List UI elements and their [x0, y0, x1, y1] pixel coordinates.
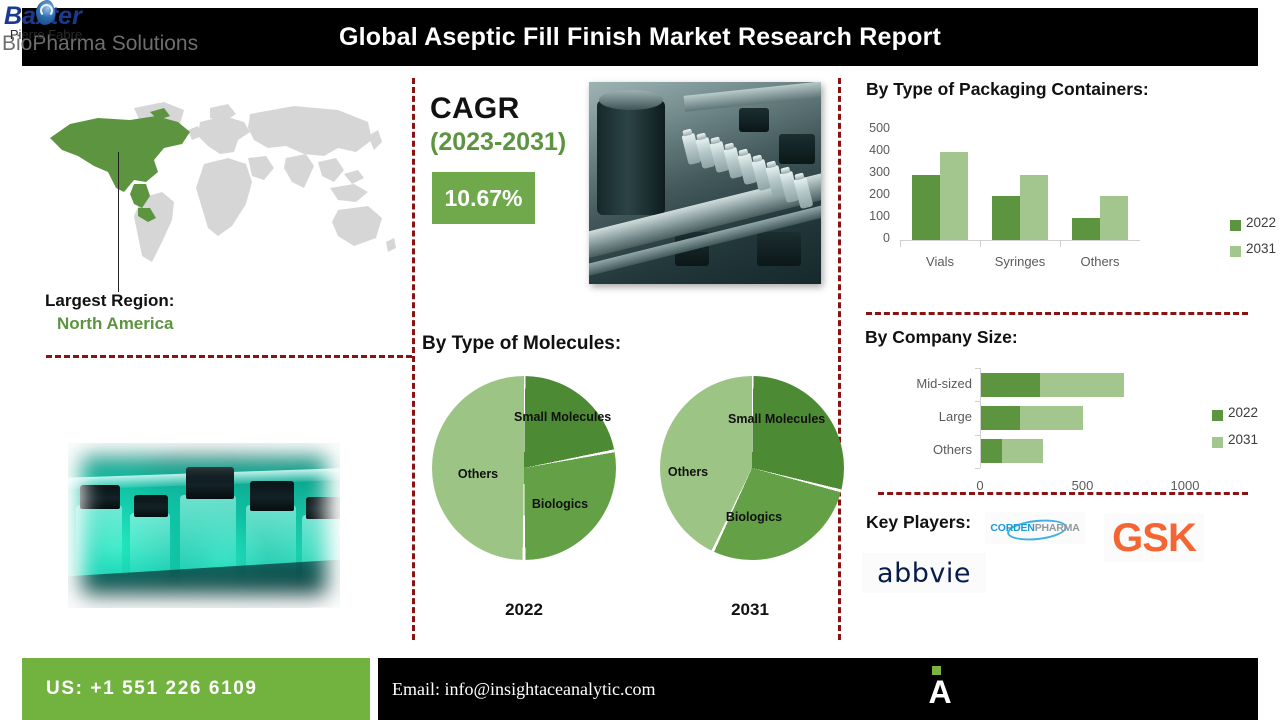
y-axis-tick-mark: [975, 435, 980, 436]
gsk-wordmark: GSK: [1112, 516, 1196, 561]
pie-2031-small-molecules-text: Small Molecules: [728, 412, 825, 426]
bar-2031-mid-sized: [1040, 373, 1124, 397]
logo-cordenpharma: CORDENPHARMA: [985, 512, 1085, 544]
y-axis-label-large: Large: [860, 409, 972, 424]
world-map: [38, 96, 398, 276]
x-axis-tick: 1000: [1160, 478, 1210, 493]
pie-2022-caption: 2022: [484, 600, 564, 620]
logo-letter: A: [920, 676, 960, 708]
legend-swatch-2022: [1212, 410, 1223, 421]
bar-2022-vials: [912, 175, 940, 240]
largest-region-value: North America: [57, 314, 174, 334]
x-axis-label-others: Others: [1060, 254, 1140, 269]
y-axis-tick-mark: [975, 368, 980, 369]
footer-email-box: Email: info@insightaceanalytic.com: [378, 658, 1258, 720]
cordenpharma-wordmark: CORDENPHARMA: [990, 522, 1079, 534]
pierre-fabre-leaf-icon: [36, 0, 55, 25]
legend-label-2031: 2031: [1246, 241, 1276, 256]
header-band: Global Aseptic Fill Finish Market Resear…: [22, 8, 1258, 66]
packaging-bar-chart: 5004003002001000VialsSyringesOthers20222…: [845, 125, 1275, 285]
divider-vertical-left: [412, 78, 415, 640]
bar-2031-syringes: [1020, 175, 1048, 240]
bar-2022-others: [981, 439, 1002, 463]
vial-photo-vignette: [68, 443, 340, 608]
y-axis-tick-mark: [975, 468, 980, 469]
pie-2031-label-small-molecules: Small Molecules: [728, 412, 812, 426]
pie-2022-others-text: Others: [458, 467, 498, 481]
cordenpharma-part2: PHARMA: [1035, 522, 1080, 534]
x-axis-line: [900, 240, 1140, 241]
divider-vertical-right: [838, 78, 841, 640]
pie-2031-biologics-text: Biologics: [726, 510, 782, 524]
legend-label-2031: 2031: [1228, 432, 1258, 447]
bar-2031-others: [1002, 439, 1043, 463]
y-axis-tick: 400: [845, 143, 890, 157]
molecules-chart-title: By Type of Molecules:: [422, 333, 621, 355]
y-axis-tick-mark: [975, 401, 980, 402]
bar-2022-mid-sized: [981, 373, 1040, 397]
vial-photo: [68, 443, 340, 608]
x-axis-separator: [900, 240, 901, 247]
pie-2031-caption: 2031: [710, 600, 790, 620]
machine-drum-top: [599, 90, 663, 110]
world-map-svg: [38, 96, 398, 276]
divider-horizontal-left: [46, 355, 412, 358]
x-axis-separator: [1060, 240, 1061, 247]
cagr-value-box: 10.67%: [432, 172, 535, 224]
largest-region-label: Largest Region:: [45, 291, 174, 311]
infographic-page: Global Aseptic Fill Finish Market Resear…: [0, 0, 1280, 720]
x-axis-label-syringes: Syringes: [980, 254, 1060, 269]
cagr-title: CAGR: [430, 92, 520, 126]
bar-2031-large: [1020, 406, 1084, 430]
divider-horizontal-right-top: [866, 312, 1248, 315]
packaging-chart-title: By Type of Packaging Containers:: [866, 79, 1149, 100]
pie-2031-others-text: Others: [668, 465, 708, 479]
pie-2022-biologics-text: Biologics: [532, 497, 588, 511]
x-axis-separator: [980, 240, 981, 247]
legend-label-2022: 2022: [1246, 215, 1276, 230]
machine-block: [757, 232, 801, 266]
y-axis-tick: 100: [845, 209, 890, 223]
footer-email-text: Email: info@insightaceanalytic.com: [392, 679, 656, 700]
legend-swatch-2031: [1212, 437, 1223, 448]
logo-gsk: GSK: [1104, 514, 1204, 562]
bar-2022-large: [981, 406, 1020, 430]
company-bar-chart: Mid-sizedLargeOthers0500100020222031: [860, 362, 1260, 492]
footer-phone-text: US: +1 551 226 6109: [46, 678, 258, 700]
machine-photo: [589, 82, 821, 284]
cagr-years: (2023-2031): [430, 128, 566, 157]
abbvie-wordmark: abbvie: [877, 558, 971, 589]
pierre-fabre-wordmark: Pierre Fabre: [0, 27, 92, 42]
bar-2031-others: [1100, 196, 1128, 240]
map-leader-line: [118, 152, 119, 292]
pie-2031-label-biologics: Biologics: [714, 510, 794, 524]
company-chart-title: By Company Size:: [865, 327, 1018, 348]
machine-block: [779, 134, 815, 164]
cordenpharma-part1: CORDEN: [990, 522, 1034, 534]
cagr-value: 10.67%: [444, 185, 522, 212]
x-axis-tick: 0: [955, 478, 1005, 493]
pie-2022-label-others: Others: [443, 467, 513, 481]
pie-2022-label-small-molecules: Small Molecules: [514, 410, 598, 424]
bar-2022-syringes: [992, 196, 1020, 240]
pie-2022-small-molecules-text: Small Molecules: [514, 410, 611, 424]
company-logo: A: [920, 666, 960, 712]
key-players-title: Key Players:: [866, 512, 971, 533]
pie-2022-label-biologics: Biologics: [520, 497, 600, 511]
y-axis-tick: 500: [845, 121, 890, 135]
footer-phone-box: US: +1 551 226 6109: [22, 658, 370, 720]
x-axis-tick: 500: [1058, 478, 1108, 493]
machine-drum: [597, 100, 665, 215]
x-axis-label-vials: Vials: [900, 254, 980, 269]
legend-label-2022: 2022: [1228, 405, 1258, 420]
page-title: Global Aseptic Fill Finish Market Resear…: [339, 23, 941, 52]
pie-2031-label-others: Others: [653, 465, 723, 479]
y-axis-tick: 200: [845, 187, 890, 201]
y-axis-tick: 300: [845, 165, 890, 179]
bar-2031-vials: [940, 152, 968, 240]
machine-block: [739, 108, 769, 132]
legend-swatch-2031: [1230, 246, 1241, 257]
legend-swatch-2022: [1230, 220, 1241, 231]
bar-2022-others: [1072, 218, 1100, 240]
y-axis-label-others: Others: [860, 442, 972, 457]
y-axis-tick: 0: [845, 231, 890, 245]
y-axis-label-mid-sized: Mid-sized: [860, 376, 972, 391]
logo-abbvie: abbvie: [862, 553, 986, 593]
